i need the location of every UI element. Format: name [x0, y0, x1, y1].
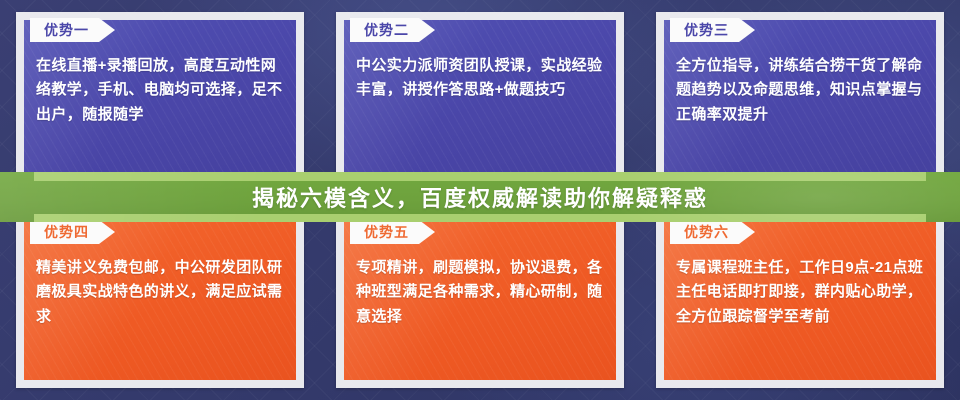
card-body-6: 专属课程班主任，工作日9点-21点班主任电话即打即接，群内贴心助学，全方位跟踪督… [676, 256, 924, 329]
card-tag-label-2: 优势二 [364, 23, 409, 37]
card-body-1: 在线直播+录播回放，高度互动性网络教学，手机、电脑均可选择，足不出户，随报随学 [36, 54, 284, 127]
advantage-card-5[interactable]: 专项精讲，刷题模拟，协议退费，各种班型满足各种需求，精心研制，随意选择 优势五 [336, 214, 624, 388]
card-panel-2: 中公实力派师资团队授课，实战经验丰富，讲授作答思路+做题技巧 [344, 20, 616, 178]
card-slot-4: 精美讲义免费包邮，中公研发团队研磨极具实战特色的讲义，满足应试需求 优势四 [0, 200, 320, 400]
advantage-card-4[interactable]: 精美讲义免费包邮，中公研发团队研磨极具实战特色的讲义，满足应试需求 优势四 [16, 214, 304, 388]
advantage-card-1[interactable]: 在线直播+录播回放，高度互动性网络教学，手机、电脑均可选择，足不出户，随报随学 … [16, 12, 304, 186]
card-tag-4: 优势四 [30, 220, 115, 244]
advantage-card-2[interactable]: 中公实力派师资团队授课，实战经验丰富，讲授作答思路+做题技巧 优势二 [336, 12, 624, 186]
card-tag-6: 优势六 [670, 220, 755, 244]
card-body-2: 中公实力派师资团队授课，实战经验丰富，讲授作答思路+做题技巧 [356, 54, 604, 103]
card-panel-5: 专项精讲，刷题模拟，协议退费，各种班型满足各种需求，精心研制，随意选择 [344, 222, 616, 380]
card-slot-6: 专属课程班主任，工作日9点-21点班主任电话即打即接，群内贴心助学，全方位跟踪督… [640, 200, 960, 400]
card-slot-3: 全方位指导，讲练结合捞干货了解命题趋势以及命题思维，知识点掌握与正确率双提升 优… [640, 0, 960, 200]
advantage-card-6[interactable]: 专属课程班主任，工作日9点-21点班主任电话即打即接，群内贴心助学，全方位跟踪督… [656, 214, 944, 388]
card-body-5: 专项精讲，刷题模拟，协议退费，各种班型满足各种需求，精心研制，随意选择 [356, 256, 604, 329]
card-tag-label-6: 优势六 [684, 225, 729, 239]
card-slot-2: 中公实力派师资团队授课，实战经验丰富，讲授作答思路+做题技巧 优势二 [320, 0, 640, 200]
advantage-card-3[interactable]: 全方位指导，讲练结合捞干货了解命题趋势以及命题思维，知识点掌握与正确率双提升 优… [656, 12, 944, 186]
card-body-3: 全方位指导，讲练结合捞干货了解命题趋势以及命题思维，知识点掌握与正确率双提升 [676, 54, 924, 127]
card-tag-3: 优势三 [670, 18, 755, 42]
card-slot-1: 在线直播+录播回放，高度互动性网络教学，手机、电脑均可选择，足不出户，随报随学 … [0, 0, 320, 200]
card-slot-5: 专项精讲，刷题模拟，协议退费，各种班型满足各种需求，精心研制，随意选择 优势五 [320, 200, 640, 400]
card-panel-6: 专属课程班主任，工作日9点-21点班主任电话即打即接，群内贴心助学，全方位跟踪督… [664, 222, 936, 380]
card-tag-1: 优势一 [30, 18, 115, 42]
promo-graphic: 在线直播+录播回放，高度互动性网络教学，手机、电脑均可选择，足不出户，随报随学 … [0, 0, 960, 400]
card-tag-label-5: 优势五 [364, 225, 409, 239]
card-tag-label-3: 优势三 [684, 23, 729, 37]
card-tag-label-1: 优势一 [44, 23, 89, 37]
card-panel-4: 精美讲义免费包邮，中公研发团队研磨极具实战特色的讲义，满足应试需求 [24, 222, 296, 380]
card-body-4: 精美讲义免费包邮，中公研发团队研磨极具实战特色的讲义，满足应试需求 [36, 256, 284, 329]
card-tag-2: 优势二 [350, 18, 435, 42]
banner-title: 揭秘六模含义，百度权威解读助你解疑释惑 [0, 172, 960, 222]
card-panel-1: 在线直播+录播回放，高度互动性网络教学，手机、电脑均可选择，足不出户，随报随学 [24, 20, 296, 178]
headline-banner: 揭秘六模含义，百度权威解读助你解疑释惑 [0, 172, 960, 222]
card-panel-3: 全方位指导，讲练结合捞干货了解命题趋势以及命题思维，知识点掌握与正确率双提升 [664, 20, 936, 178]
card-tag-5: 优势五 [350, 220, 435, 244]
card-tag-label-4: 优势四 [44, 225, 89, 239]
